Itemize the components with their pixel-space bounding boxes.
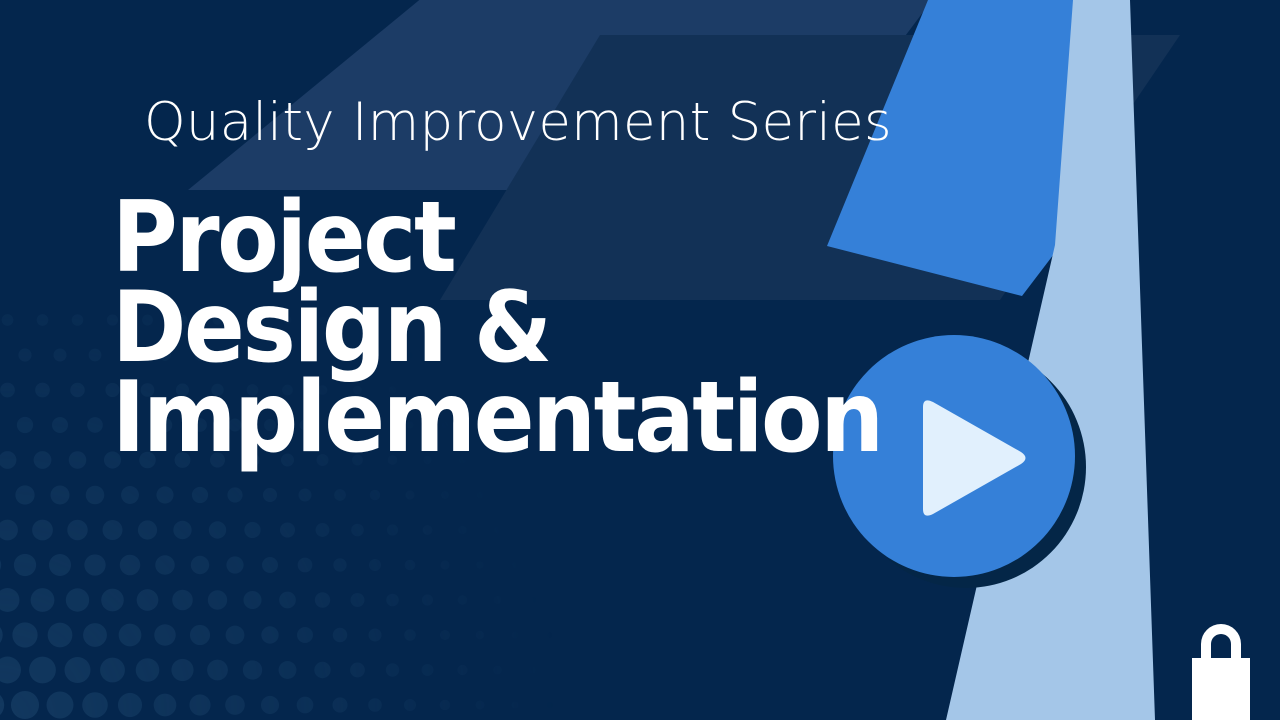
title-group: Quality Improvement Series Project Desig… [112, 96, 872, 463]
lock-icon [1186, 614, 1256, 720]
page-title: Project Design & Implementation [112, 193, 807, 463]
play-triangle-icon [911, 397, 1029, 519]
series-eyebrow-text: Quality Improvement Series [112, 96, 872, 149]
video-thumbnail-slide: Quality Improvement Series Project Desig… [0, 0, 1280, 720]
